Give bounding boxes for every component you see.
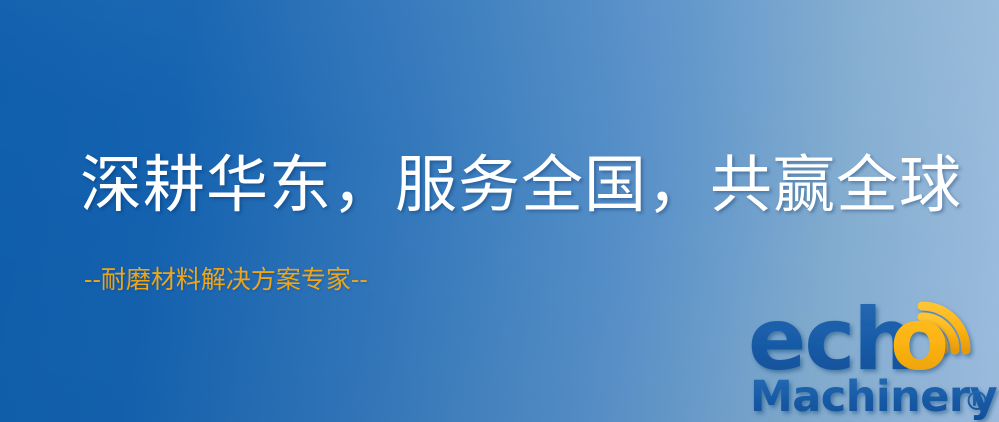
page-subtitle: --耐磨材料解决方案专家-- — [84, 266, 368, 294]
hero-banner: 深耕华东，服务全国，共赢全球 --耐磨材料解决方案专家-- — [0, 0, 999, 422]
logo-tagline: Machinery — [750, 372, 998, 422]
page-title: 深耕华东，服务全国，共赢全球 — [80, 152, 962, 218]
logo-trademark-icon: ® — [964, 387, 990, 417]
echo-machinery-logo[interactable]: ech o Machinery ® — [748, 296, 999, 422]
